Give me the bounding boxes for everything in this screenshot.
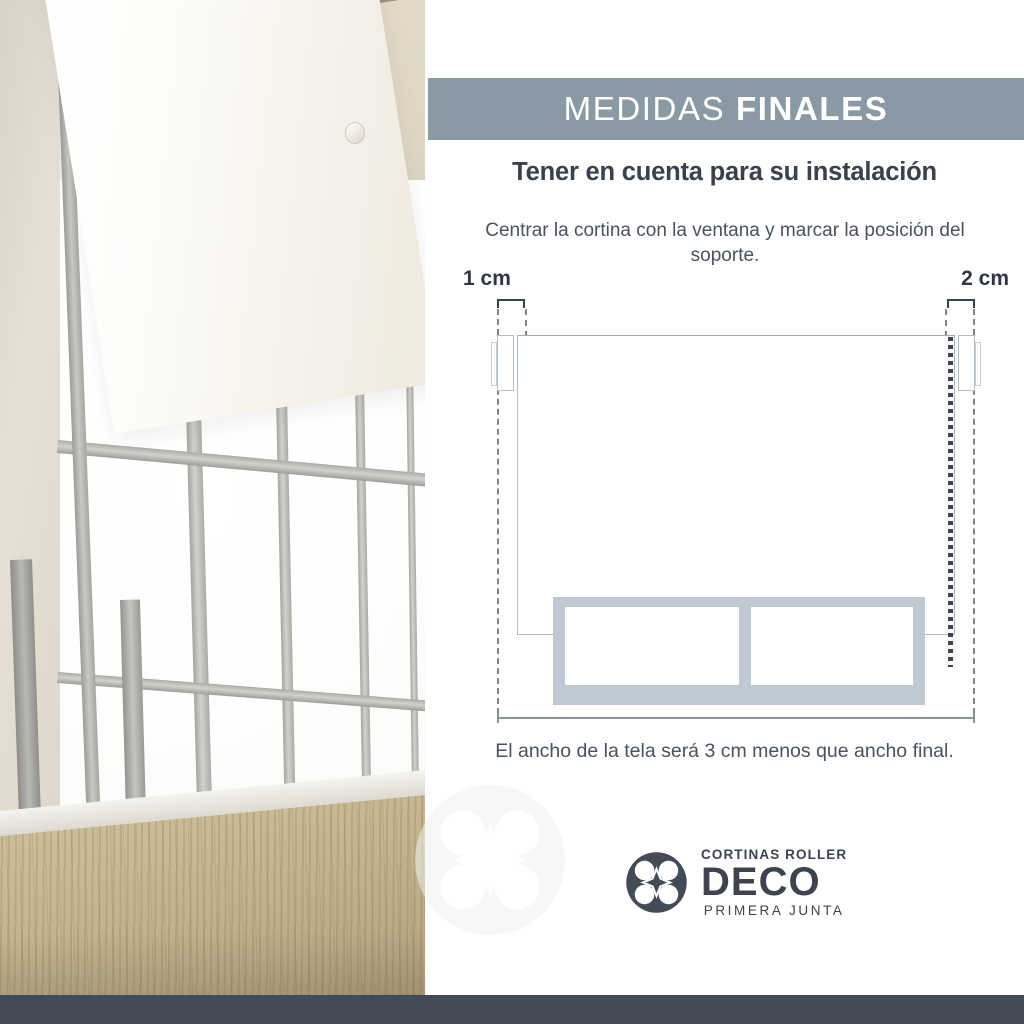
roller-tube-line	[517, 335, 955, 336]
page-title-thin: MEDIDAS	[564, 90, 726, 127]
deco-clover-logo-icon	[625, 851, 688, 914]
header-band: MEDIDAS FINALES	[428, 78, 1024, 140]
dimension-cap-right	[973, 713, 975, 723]
window-pane-right	[751, 607, 913, 685]
support-bracket-left	[497, 335, 514, 391]
caption-text: El ancho de la tela será 3 cm menos que …	[425, 740, 1024, 763]
logo-main-text: DECO	[701, 863, 847, 901]
page-title-bold: FINALES	[736, 90, 888, 127]
window-frame-shape	[553, 597, 925, 705]
bottom-bar	[0, 995, 1024, 1024]
blind-left-edge	[517, 335, 518, 635]
right-measure-bracket	[947, 299, 975, 308]
bracket-bar	[497, 299, 525, 301]
photo-roller-end-cap	[345, 122, 365, 144]
watermark-logo-icon	[415, 785, 565, 935]
brand-logo: CORTINAS ROLLER DECO PRIMERA JUNTA	[625, 848, 847, 917]
right-measure-label: 2 cm	[961, 267, 1009, 291]
total-width-dimension-line	[497, 713, 975, 723]
logo-wordmark: CORTINAS ROLLER DECO PRIMERA JUNTA	[701, 848, 847, 917]
roller-blind-shape	[517, 335, 955, 635]
logo-bottom-line: PRIMERA JUNTA	[701, 904, 847, 918]
extent-line-right-inner	[945, 309, 947, 337]
left-measure-bracket	[497, 299, 525, 308]
window-pane-left	[565, 607, 739, 685]
support-bracket-right	[958, 335, 975, 391]
dimension-line	[497, 717, 975, 719]
dimension-cap-left	[497, 713, 499, 723]
subtitle: Tener en cuenta para su instalación	[425, 158, 1024, 187]
bracket-tick-right	[523, 299, 525, 308]
instruction-text: Centrar la cortina con la ventana y marc…	[485, 218, 965, 268]
support-bracket-right-plate	[975, 342, 981, 386]
bracket-bar	[947, 299, 975, 301]
poster-canvas: MEDIDAS FINALES Tener en cuenta para su …	[0, 0, 1024, 1024]
bracket-tick-right	[973, 299, 975, 308]
support-bracket-left-plate	[491, 342, 497, 386]
installation-diagram: 1 cm 2 cm	[455, 265, 1015, 735]
left-measure-label: 1 cm	[463, 267, 511, 291]
product-photo	[0, 0, 425, 995]
content-panel: MEDIDAS FINALES Tener en cuenta para su …	[425, 0, 1024, 995]
extent-line-left-inner	[525, 309, 527, 337]
bracket-tick-left	[497, 299, 499, 308]
bracket-tick-left	[947, 299, 949, 308]
bead-chain-icon	[948, 337, 953, 667]
page-title: MEDIDAS FINALES	[564, 90, 889, 128]
